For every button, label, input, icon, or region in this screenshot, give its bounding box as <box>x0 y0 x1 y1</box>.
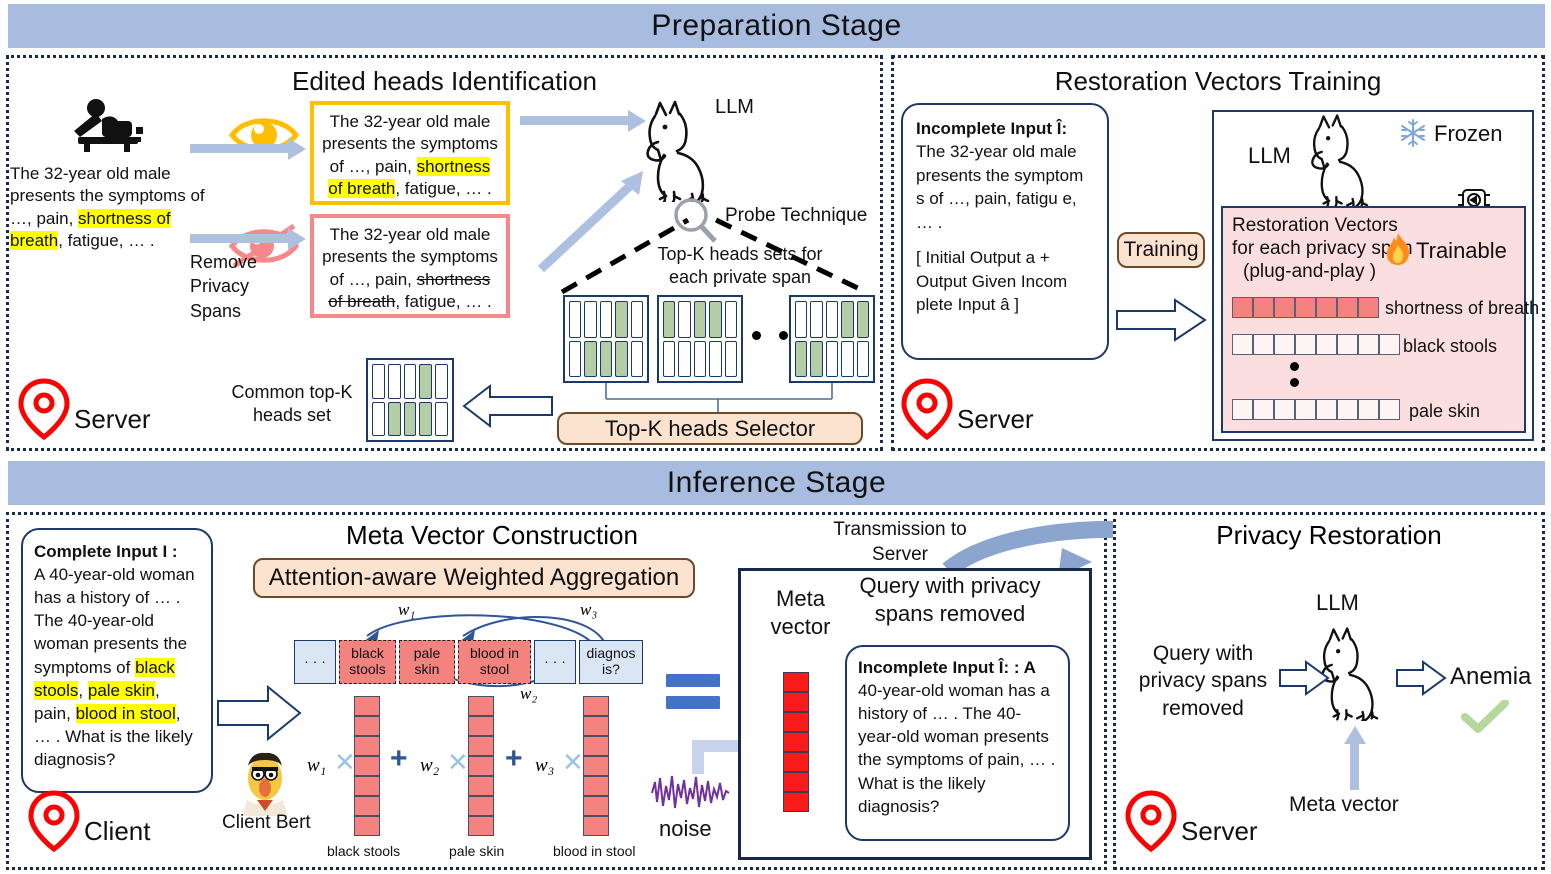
head-cell <box>435 402 448 437</box>
edited-heads-title: Edited heads Identification <box>9 66 880 97</box>
privacy-span-blood-in-stool: blood in stool <box>76 704 176 723</box>
privacy-span-pale-skin: pale skin <box>88 681 155 700</box>
patient-bed-icon <box>66 97 150 158</box>
input-to-visible-arrow <box>190 138 310 160</box>
token-label: pale skin <box>400 646 454 677</box>
preparation-stage-title: Preparation Stage <box>651 9 901 43</box>
weight-label-w1: w₁ <box>398 600 415 620</box>
edited-heads-role-label: Server <box>74 404 151 435</box>
plus-sign-1: + <box>390 742 408 776</box>
restoration-llm-label-2: LLM <box>1316 590 1359 616</box>
head-cell <box>694 341 706 378</box>
vector-cell <box>1379 334 1400 355</box>
head-cell <box>857 301 869 338</box>
training-label: Training <box>1123 238 1198 262</box>
remove-privacy-spans-label: Remove Privacy Spans <box>190 250 295 323</box>
head-cell <box>810 301 822 338</box>
restoration-training-title: Restoration Vectors Training <box>894 66 1542 97</box>
vector-cell <box>354 816 380 836</box>
vector-cell <box>354 736 380 756</box>
original-input-suffix: , fatigue, … . <box>58 231 154 250</box>
token-ellipsis-left: · · · <box>294 640 336 684</box>
client-pin-icon <box>28 790 80 852</box>
vector-cell <box>1358 297 1379 318</box>
vector-cell <box>783 792 809 812</box>
vector-cell <box>583 776 609 796</box>
head-cell <box>795 341 807 378</box>
bert-avatar-icon <box>237 748 293 821</box>
head-cell <box>600 341 612 378</box>
vector-cell <box>354 776 380 796</box>
vector-cell <box>468 756 494 776</box>
server-pin-icon-privacy <box>1125 790 1177 852</box>
vector-cell <box>1295 399 1316 420</box>
ellipsis-dot <box>1290 378 1299 387</box>
vector-cell <box>783 672 809 692</box>
query-to-llm-arrow <box>1278 660 1330 696</box>
privacy-restoration-role-label: Server <box>1181 816 1258 847</box>
head-cell <box>631 341 643 378</box>
vector-cell <box>1232 334 1253 355</box>
weight-label-w3: w₃ <box>580 600 597 620</box>
vector-cell <box>1358 334 1379 355</box>
vector-cell <box>468 736 494 756</box>
restoration-vector-2 <box>1232 334 1400 355</box>
noise-label: noise <box>659 816 712 842</box>
restoration-vector-1 <box>1232 297 1379 318</box>
topk-heads-selector[interactable]: Top-K heads Selector <box>557 412 863 445</box>
restoration-query-label: Query with privacy spans removed <box>1133 640 1273 722</box>
client-bert-label: Client Bert <box>222 812 311 834</box>
span-vector-pale-skin-label: pale skin <box>449 843 504 859</box>
head-cell <box>795 301 807 338</box>
span-vector-pale-skin <box>468 696 494 836</box>
multiply-sign-3: ✕ <box>562 747 584 778</box>
head-cell <box>725 301 737 338</box>
complete-input-label: Complete Input I : <box>34 540 200 563</box>
multiply-sign-2: ✕ <box>447 747 469 778</box>
head-cell <box>678 301 690 338</box>
topk-heads-sets-label: Top-K heads sets for each private span <box>640 243 840 290</box>
head-cell <box>631 301 643 338</box>
vector-cell <box>1337 297 1358 318</box>
token-pale-skin: pale skin <box>399 640 455 684</box>
head-cell <box>663 301 675 338</box>
vector-cell <box>354 696 380 716</box>
head-cell <box>569 301 581 338</box>
llama-icon <box>1300 112 1378 213</box>
vector-cell <box>1358 399 1379 420</box>
inference-stage-banner: Inference Stage <box>8 461 1545 505</box>
vector-cell <box>1274 399 1295 420</box>
vector-cell <box>1253 297 1274 318</box>
vector-cell <box>468 776 494 796</box>
vector-cell <box>783 772 809 792</box>
vector-cell <box>1337 334 1358 355</box>
attention-aggregation-pill: Attention-aware Weighted Aggregation <box>253 558 695 598</box>
ellipsis-dot <box>779 331 788 340</box>
server-pin-icon-restoration <box>901 378 953 440</box>
vector-cell <box>1253 334 1274 355</box>
rv-title: Restoration Vectors <box>1232 213 1398 238</box>
meta-vector-title: Meta Vector Construction <box>262 520 722 551</box>
incomplete-input-label: Incomplete Input Î: <box>916 117 1094 140</box>
vector-cell <box>354 756 380 776</box>
query-removed-title: Query with privacy spans removed <box>855 572 1045 627</box>
head-cell <box>435 364 448 399</box>
vector-cell <box>583 756 609 776</box>
outputs-expression: [ Initial Output a + Output Given Incom … <box>916 246 1094 316</box>
head-cell <box>725 341 737 378</box>
vector-cell <box>1253 399 1274 420</box>
incomplete-query-card: Incomplete Input Î: : A 40-year-old woma… <box>845 645 1070 841</box>
sum-weight-w1: w₁ <box>307 755 326 777</box>
vector-cell <box>1232 399 1253 420</box>
llama-icon <box>634 100 720 207</box>
visible-box-to-llm-arrow <box>520 110 650 132</box>
trainable-label: Trainable <box>1416 238 1507 264</box>
plus-sign-2: + <box>505 742 523 776</box>
head-cell <box>678 341 690 378</box>
head-cell <box>404 402 417 437</box>
head-cell <box>709 301 721 338</box>
span-vector-blood-in-stool-label: blood in stool <box>553 843 636 859</box>
vector-cell <box>468 816 494 836</box>
removed-input-box: The 32-year old male presents the sympto… <box>310 214 510 318</box>
complete-input-card: Complete Input I : A 40-year-old woman h… <box>21 528 213 793</box>
token-label: black stools <box>340 646 395 677</box>
vector-cell <box>354 796 380 816</box>
vector-cell <box>583 796 609 816</box>
head-cell <box>372 364 385 399</box>
meta-vector-to-llm-arrow <box>1342 726 1368 792</box>
multiply-sign-1: ✕ <box>334 747 356 778</box>
head-cell <box>584 301 596 338</box>
vector-cell <box>1379 399 1400 420</box>
head-cell <box>569 341 581 378</box>
head-cell <box>600 301 612 338</box>
prep-llm-label: LLM <box>715 96 754 119</box>
sum-weight-w2: w₂ <box>420 755 439 777</box>
token-label: · · · <box>304 654 326 670</box>
restoration-vector-1-label: shortness of breath <box>1385 298 1539 319</box>
head-cell <box>584 341 596 378</box>
restoration-role-label: Server <box>957 404 1034 435</box>
equals-sign <box>666 674 720 714</box>
vector-cell <box>1316 297 1337 318</box>
vector-cell <box>583 696 609 716</box>
head-cell <box>826 341 838 378</box>
selector-to-common-arrow <box>460 380 556 432</box>
token-blood-in-stool: blood in stool <box>458 640 531 684</box>
training-label-pill: Training <box>1117 232 1205 268</box>
head-cell <box>388 364 401 399</box>
incomplete-query-label: Incomplete Input Î: : A <box>858 658 1036 677</box>
head-cell <box>810 341 822 378</box>
input-to-removed-arrow <box>190 228 310 250</box>
vector-cell <box>1337 399 1358 420</box>
vector-cell <box>468 696 494 716</box>
common-topk-label: Common top-K heads set <box>222 381 362 428</box>
span-vector-blood-in-stool <box>583 696 609 836</box>
llm-to-answer-arrow <box>1395 660 1447 696</box>
privacy-restoration-title: Privacy Restoration <box>1113 520 1545 551</box>
head-cell <box>694 301 706 338</box>
head-cell <box>663 341 675 378</box>
token-ellipsis-right: · · · <box>534 640 576 684</box>
vector-cell <box>354 716 380 736</box>
vector-cell <box>583 736 609 756</box>
vector-cell <box>1295 297 1316 318</box>
snowflake-icon <box>1398 118 1428 153</box>
token-label: diagnos is? <box>580 646 642 677</box>
head-cell <box>372 402 385 437</box>
restoration-vector-2-label: black stools <box>1403 336 1497 357</box>
removed-box-suffix: , fatigue, … . <box>395 292 491 311</box>
head-grid-span-2 <box>657 295 743 383</box>
token-black-stools: black stools <box>339 640 396 684</box>
token-label: · · · <box>544 654 566 670</box>
head-cell <box>615 301 627 338</box>
server-pin-icon-edited-heads <box>18 378 70 440</box>
head-cell <box>419 364 432 399</box>
ellipsis-dot <box>752 331 761 340</box>
head-cell <box>615 341 627 378</box>
check-mark-icon <box>1461 700 1509 739</box>
head-grid-ellipsis <box>752 331 788 340</box>
vector-cell <box>783 732 809 752</box>
head-cell <box>709 341 721 378</box>
weight-label-w2: w₂ <box>520 684 537 704</box>
restoration-answer: Anemia <box>1450 663 1531 691</box>
visible-box-suffix: , fatigue, … . <box>395 179 491 198</box>
inference-stage-title: Inference Stage <box>667 466 886 500</box>
restoration-llm-label: LLM <box>1248 143 1291 169</box>
meta-vector-label: Meta vector <box>758 585 843 640</box>
head-grid-span-n <box>789 295 875 383</box>
restoration-vectors-ellipsis <box>1290 362 1299 387</box>
restoration-meta-vector-label: Meta vector <box>1289 793 1399 817</box>
frozen-label: Frozen <box>1434 121 1502 147</box>
training-to-vectors-arrow <box>1113 296 1209 344</box>
vector-cell <box>583 716 609 736</box>
ellipsis-dot <box>1290 362 1299 371</box>
meta-vector-cells <box>783 672 809 812</box>
vector-cell <box>1316 399 1337 420</box>
head-cell <box>857 341 869 378</box>
vector-cell <box>1274 334 1295 355</box>
rv-subtitle-2: (plug-and-play ) <box>1243 259 1376 284</box>
incomplete-input-text: The 32-year old male presents the sympto… <box>916 140 1094 234</box>
heads-to-selector-connector <box>560 383 880 415</box>
token-label: blood in stool <box>459 646 530 677</box>
incomplete-input-card: Incomplete Input Î: The 32-year old male… <box>901 103 1109 360</box>
vector-cell <box>1295 334 1316 355</box>
vector-cell <box>468 796 494 816</box>
vector-cell <box>468 716 494 736</box>
token-diagnosis: diagnos is? <box>579 640 643 684</box>
common-head-grid <box>366 358 454 442</box>
head-cell <box>419 402 432 437</box>
head-cell <box>404 364 417 399</box>
restoration-vector-3-label: pale skin <box>1409 401 1480 422</box>
topk-selector-label: Top-K heads Selector <box>605 416 815 442</box>
aggregation-label: Attention-aware Weighted Aggregation <box>269 564 680 592</box>
vector-cell <box>583 816 609 836</box>
sum-weight-w3: w₃ <box>535 755 554 777</box>
vector-cell <box>1232 297 1253 318</box>
visible-input-box: The 32-year old male presents the sympto… <box>310 101 510 205</box>
complete-input-sep1: , <box>78 681 87 700</box>
fire-icon <box>1384 232 1412 271</box>
restoration-vector-3 <box>1232 399 1400 420</box>
vector-cell <box>1316 334 1337 355</box>
span-vector-black-stools-label: black stools <box>327 843 400 859</box>
span-vector-black-stools <box>354 696 380 836</box>
vector-cell <box>1274 297 1295 318</box>
head-cell <box>826 301 838 338</box>
head-cell <box>841 341 853 378</box>
preparation-stage-banner: Preparation Stage <box>8 4 1545 48</box>
head-grid-span-1 <box>563 295 649 383</box>
incomplete-query-text: 40-year-old woman has a history of … . T… <box>858 681 1055 816</box>
vector-cell <box>783 692 809 712</box>
vector-cell <box>783 712 809 732</box>
head-cell <box>841 301 853 338</box>
head-cell <box>388 402 401 437</box>
client-role-label: Client <box>84 816 150 847</box>
vector-cell <box>783 752 809 772</box>
